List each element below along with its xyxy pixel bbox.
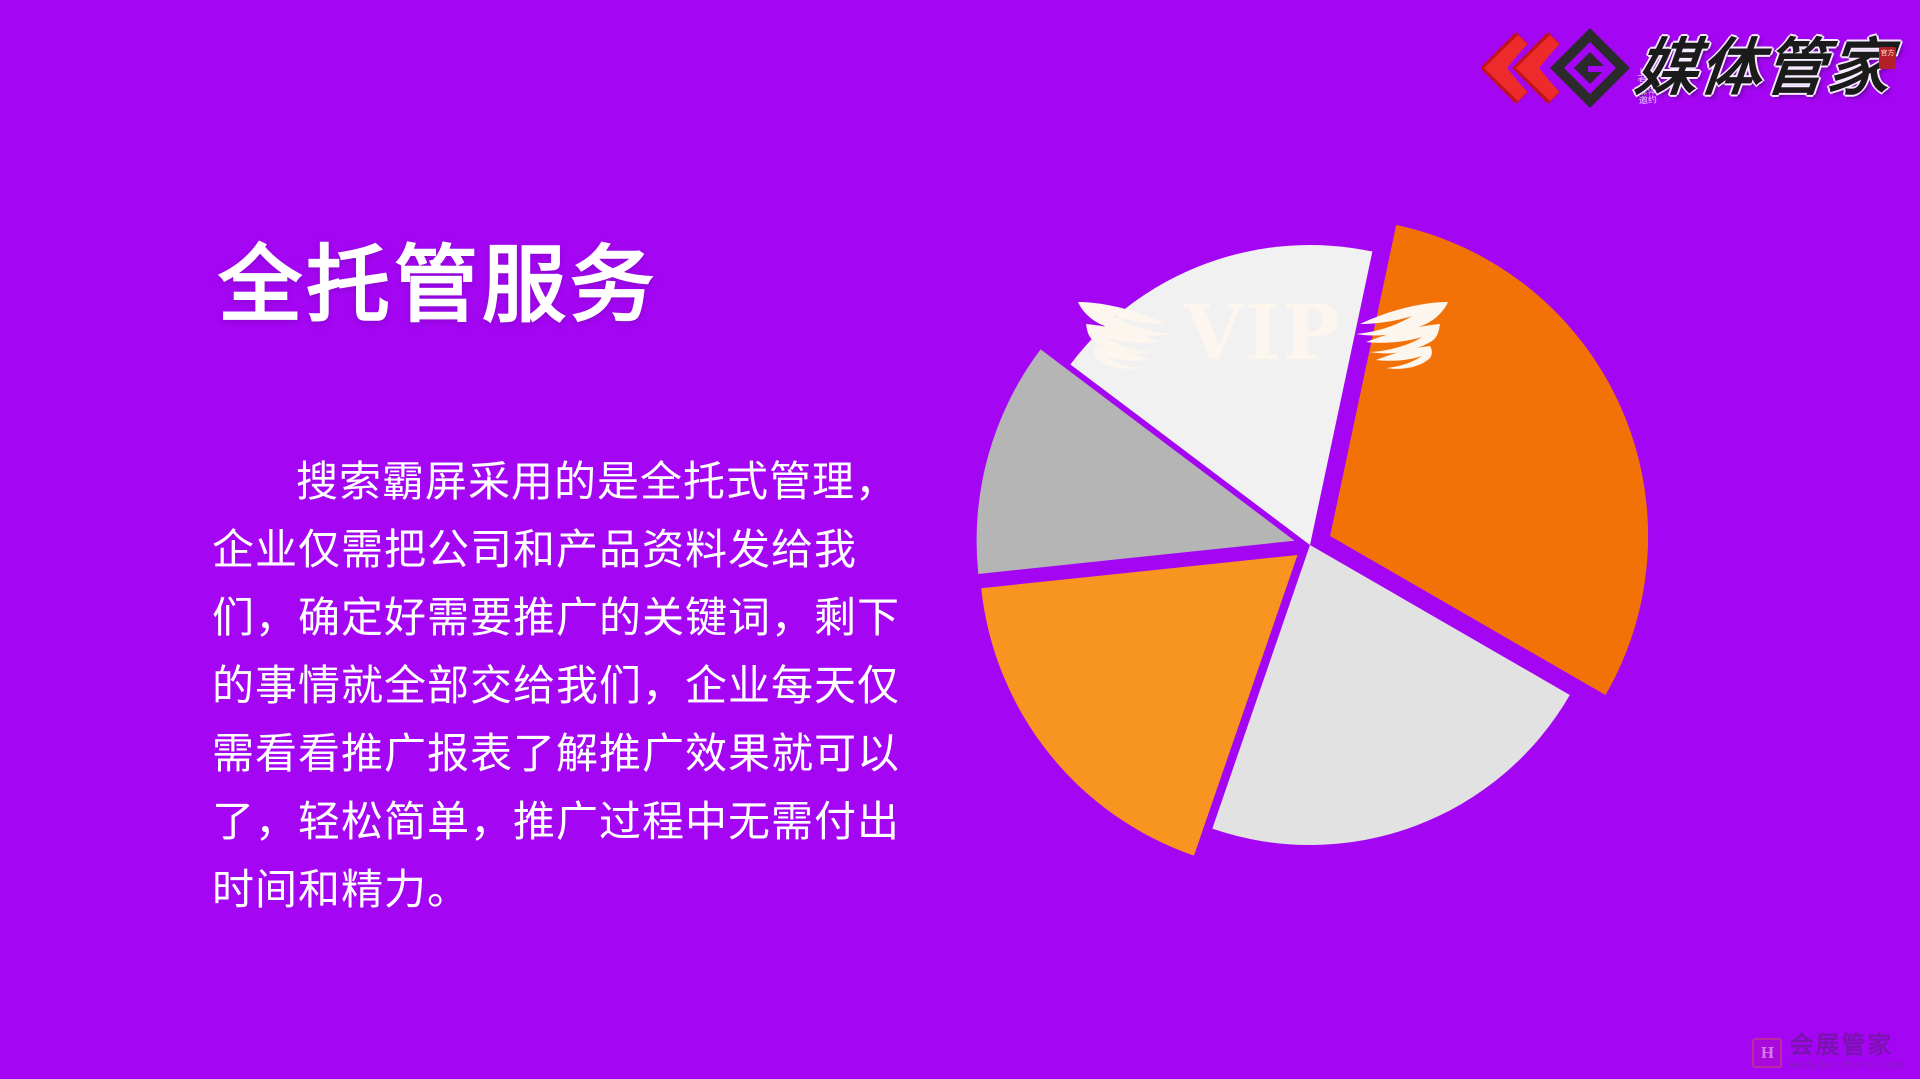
watermark-badge-letter: H bbox=[1761, 1044, 1774, 1061]
page-title: 全托管服务 bbox=[218, 243, 658, 327]
pie-chart-svg bbox=[845, 95, 1525, 775]
brand-stamp: 官方 bbox=[1879, 47, 1896, 69]
watermark-texts: 会展管家 www.huizhans.com bbox=[1789, 1034, 1906, 1071]
slide-canvas: 上海专业媒体邀约 媒体管家 官方 全托管服务 搜索霸屏采用的是全托式管理，企业仅… bbox=[0, 0, 1920, 1079]
body-paragraph: 搜索霸屏采用的是全托式管理，企业仅需把公司和产品资料发给我们，确定好需要推广的关… bbox=[212, 448, 932, 924]
brand-name: 媒体管家 bbox=[1633, 37, 1896, 99]
watermark-badge-icon: H bbox=[1752, 1038, 1782, 1068]
watermark-url: www.huizhans.com bbox=[1789, 1060, 1906, 1071]
watermark: H 会展管家 www.huizhans.com bbox=[1752, 1034, 1906, 1071]
logo-chevron-icon bbox=[1482, 26, 1630, 110]
watermark-title: 会展管家 bbox=[1789, 1034, 1906, 1058]
logo-chevron-group bbox=[1482, 26, 1630, 110]
brand-logo[interactable]: 上海专业媒体邀约 媒体管家 官方 bbox=[1482, 22, 1892, 114]
pie-chart bbox=[845, 95, 1525, 775]
pie-slice-group bbox=[977, 225, 1649, 856]
